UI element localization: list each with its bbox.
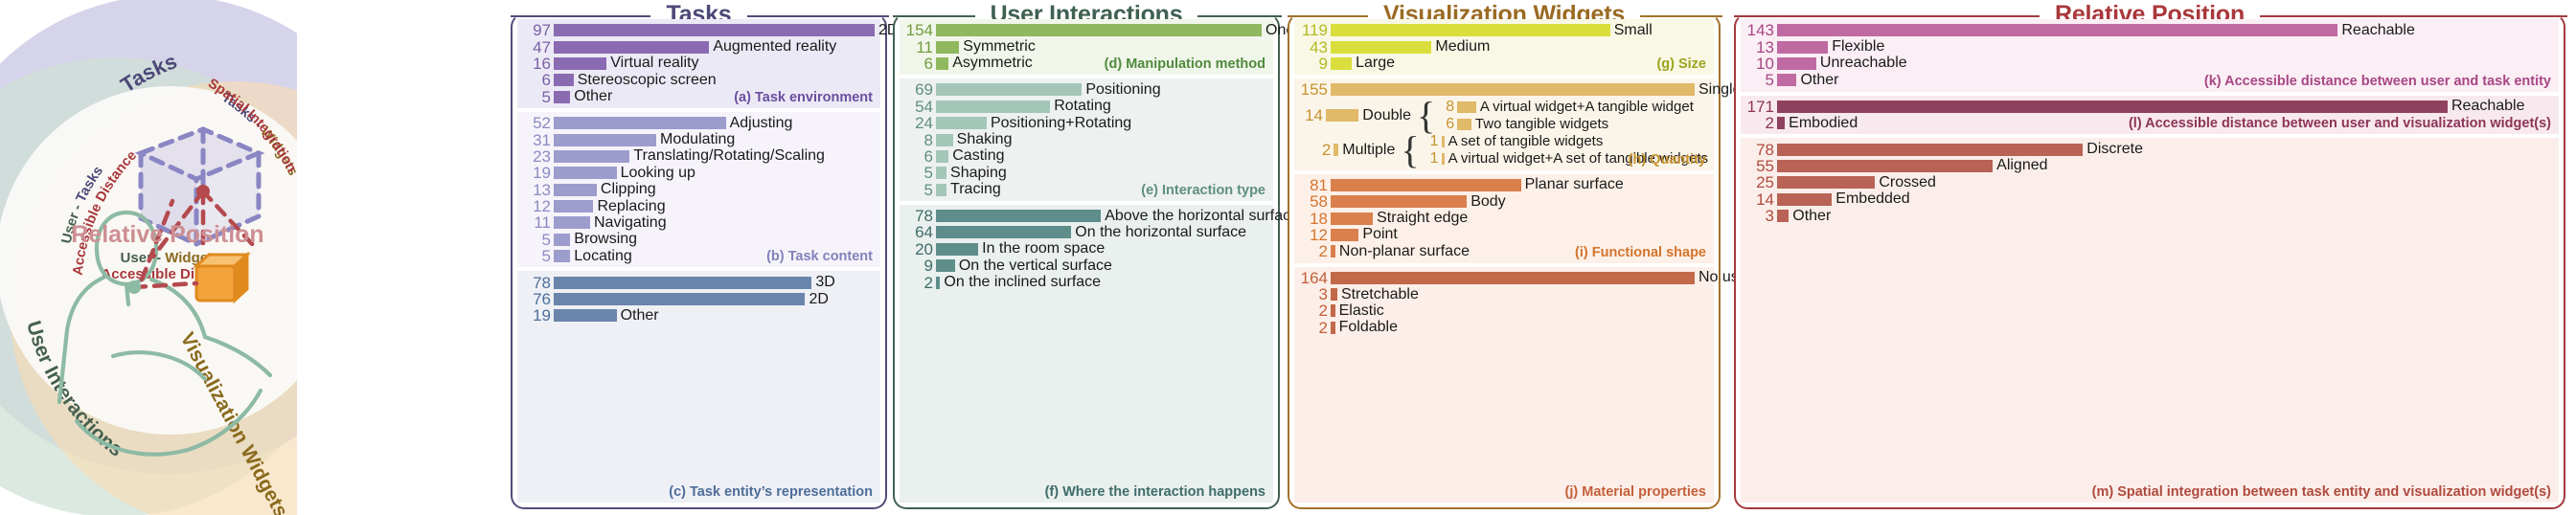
bar-label: Other	[617, 308, 659, 324]
group-caption: (c) Task entity’s representation	[669, 484, 873, 500]
bar	[554, 216, 590, 229]
chart-row: 9On the vertical surface	[903, 257, 1267, 274]
bar-label: Virtual reality	[606, 56, 698, 71]
bar-value: 58	[1298, 193, 1331, 210]
bar	[936, 259, 955, 272]
bar-value: 2	[1744, 115, 1777, 131]
bar	[1777, 210, 1789, 222]
bar-value: 5	[1744, 72, 1777, 88]
bar	[554, 24, 875, 36]
bar-label: Other	[570, 89, 612, 104]
bar	[936, 184, 946, 196]
chart-row: 6Stereoscopic screen	[521, 72, 875, 88]
bar-label: Above the horizontal surface	[1101, 209, 1299, 224]
bar-value: 31	[521, 132, 554, 148]
bar	[1457, 101, 1476, 113]
chart-row: 54Rotating	[903, 99, 1267, 115]
bar-value: 154	[903, 22, 936, 38]
bar-label: 3D	[811, 275, 834, 290]
bar-value: 1	[1423, 150, 1442, 167]
chart-row: 8A virtual widget+A tangible widget	[1438, 99, 1694, 116]
bar-label: Planar surface	[1521, 177, 1624, 192]
bar-label: Body	[1467, 194, 1505, 210]
chart-group: 155Single14Double{8A virtual widget+A ta…	[1294, 78, 1714, 169]
chart-row: 43Medium	[1298, 38, 1708, 55]
group-caption: (h) Quantity	[1629, 152, 1706, 168]
chart-row: 13Clipping	[521, 182, 875, 198]
bar-label: Browsing	[570, 232, 637, 247]
bar-value: 9	[903, 257, 936, 274]
bar-value: 6	[521, 72, 554, 88]
bar-label: Medium	[1431, 39, 1490, 55]
chart-row: 69Positioning	[903, 81, 1267, 98]
group-caption: (d) Manipulation method	[1105, 56, 1265, 72]
chart-row: 2On the inclined surface	[903, 274, 1267, 290]
bar	[554, 277, 811, 289]
chart-row: 8Shaking	[903, 131, 1267, 147]
chart-group: 78Above the horizontal surface64On the h…	[900, 205, 1273, 503]
bar-label: Embedded	[1832, 191, 1909, 207]
bar	[1777, 176, 1875, 189]
bar-value: 24	[903, 115, 936, 131]
chart-row: 155Single	[1298, 81, 1708, 98]
bar-value: 78	[521, 275, 554, 291]
bar	[554, 200, 593, 213]
bar	[1331, 229, 1358, 241]
group-caption: (i) Functional shape	[1575, 245, 1706, 260]
bar-value: 8	[1438, 99, 1457, 115]
bar-label: Symmetric	[959, 39, 1036, 55]
bar-value: 11	[521, 214, 554, 231]
chart-group: 69Positioning54Rotating24Positioning+Rot…	[900, 78, 1273, 201]
bar	[1331, 288, 1337, 301]
bar-label: Positioning	[1082, 82, 1160, 98]
bar-value: 6	[1438, 116, 1457, 132]
chart-group: 171Reachable2Embodied(l) Accessible dist…	[1741, 96, 2559, 135]
bar-value: 14	[1744, 191, 1777, 208]
chart-row: 24Positioning+Rotating	[903, 115, 1267, 131]
chart-row: 19Looking up	[521, 165, 875, 181]
title-rule	[2260, 15, 2567, 17]
bar-value: 2	[1298, 302, 1331, 319]
bar	[1331, 213, 1373, 225]
bar-value: 143	[1744, 22, 1777, 38]
bar-label: Other	[1796, 73, 1838, 88]
bar-label: Positioning+Rotating	[987, 116, 1131, 131]
chart-row: 19Other	[521, 307, 875, 324]
group-caption: (e) Interaction type	[1141, 183, 1265, 198]
bar-label: Reachable	[2448, 99, 2525, 114]
bar-label: Translating/Rotating/Scaling	[629, 148, 825, 164]
bar-value: 164	[1298, 270, 1331, 286]
bar	[936, 134, 953, 146]
bar	[936, 41, 959, 54]
bar-value: 64	[903, 224, 936, 240]
group-caption: (f) Where the interaction happens	[1045, 484, 1265, 500]
bar	[1457, 119, 1471, 130]
bar-value: 6	[903, 148, 936, 165]
bar	[1777, 24, 2337, 36]
bar-label: Asymmetric	[948, 56, 1033, 71]
chart-group: 154One-handed11Symmetric6Asymmetric(d) M…	[900, 19, 1273, 75]
bar-label: Tracing	[946, 182, 1001, 197]
bar-label: Navigating	[590, 215, 667, 231]
bar-label: Shaking	[953, 132, 1013, 147]
chart-row: 58Body	[1298, 193, 1708, 210]
chart-row: 12Point	[1298, 227, 1708, 243]
bar-value: 69	[903, 81, 936, 98]
group-caption: (j) Material properties	[1565, 484, 1706, 500]
chart-group: 143Reachable13Flexible10Unreachable5Othe…	[1741, 19, 2559, 92]
chart-group: 81Planar surface58Body18Straight edge12P…	[1294, 174, 1714, 263]
title-rule	[1640, 15, 1722, 17]
bar-value: 13	[521, 182, 554, 198]
bar-value: 5	[521, 232, 554, 248]
bar-value: 2	[1301, 142, 1334, 158]
bar	[1331, 195, 1467, 208]
chart-group: 119Small43Medium9Large(g) Size	[1294, 19, 1714, 75]
chart-row: 12Replacing	[521, 198, 875, 214]
bar-value: 43	[1298, 39, 1331, 56]
bar-label: A virtual widget+A tangible widget	[1476, 100, 1694, 115]
bar-label: Straight edge	[1373, 211, 1468, 226]
chart-row: 47Augmented reality	[521, 38, 875, 55]
bar	[554, 234, 570, 246]
panel-relative-position: Relative Position143Reachable13Flexible1…	[1734, 13, 2565, 509]
group-caption: (l) Accessible distance between user and…	[2129, 116, 2551, 131]
bar-label: Point	[1358, 227, 1397, 242]
bar-label: On the horizontal surface	[1071, 225, 1246, 240]
bar-label: Reachable	[2337, 23, 2415, 38]
conceptual-venn-diagram: Tasks User Interactions Visualization Wi…	[0, 0, 297, 515]
bar	[554, 184, 597, 196]
panel-visualization-widgets: Visualization Widgets119Small43Medium9La…	[1288, 13, 1721, 509]
bar-label: On the inclined surface	[940, 275, 1101, 290]
chart-group: 78Discrete55Aligned25Crossed14Embedded3O…	[1741, 138, 2559, 503]
bar-label: Casting	[948, 148, 1004, 164]
bar-value: 18	[1298, 211, 1331, 227]
title-rule	[893, 15, 975, 17]
bar-label: Modulating	[656, 132, 735, 147]
bar-label: Stretchable	[1337, 287, 1419, 302]
chart-row: 2Elastic	[1298, 302, 1708, 319]
bar	[1777, 144, 2083, 156]
bar-value: 78	[903, 208, 936, 224]
chart-row: 18Straight edge	[1298, 210, 1708, 226]
bar-value: 5	[903, 165, 936, 181]
bar	[1331, 83, 1695, 96]
bar	[936, 101, 1050, 113]
bar	[936, 210, 1101, 222]
chart-group: 972D display47Augmented reality16Virtual…	[517, 19, 880, 108]
bar-value: 5	[521, 248, 554, 264]
bar	[1777, 57, 1816, 70]
bar-label: Rotating	[1050, 99, 1111, 114]
bar	[1777, 74, 1796, 86]
bar-label: Flexible	[1828, 39, 1884, 55]
chart-row: 14Embedded	[1744, 191, 2553, 208]
chart-row: 6Casting	[903, 148, 1267, 165]
bar-value: 6	[903, 56, 936, 72]
bar	[1777, 41, 1828, 54]
bar	[936, 83, 1082, 96]
chart-row: 5Browsing	[521, 232, 875, 248]
bar-label: Crossed	[1875, 175, 1936, 190]
bar	[1331, 179, 1521, 191]
bar-label: Locating	[570, 249, 632, 264]
bar	[936, 57, 948, 70]
visualization-widget-icon	[196, 255, 247, 301]
chart-group: 164No use3Stretchable2Elastic2Foldable(j…	[1294, 267, 1714, 503]
bar-label: Foldable	[1335, 320, 1398, 335]
bar-label: Embodied	[1785, 116, 1858, 131]
bar	[554, 117, 726, 129]
chart-group: 52Adjusting31Modulating23Translating/Rot…	[517, 112, 880, 268]
venn-center-label: Relative Position	[71, 221, 263, 248]
bar-label: Other	[1789, 209, 1831, 224]
bar-label: Looking up	[617, 166, 695, 181]
bar	[1326, 109, 1358, 122]
bar-label: Aligned	[1993, 158, 2047, 173]
chart-row: 13Flexible	[1744, 38, 2553, 55]
bar-label: Multiple	[1338, 143, 1395, 158]
bar-value: 20	[903, 241, 936, 257]
chart-row: 143Reachable	[1744, 22, 2553, 38]
bar-value: 3	[1298, 286, 1331, 302]
bar	[1777, 101, 2448, 113]
chart-row: 762D	[521, 291, 875, 307]
bar-label: On the vertical surface	[955, 258, 1112, 274]
bar-label: Double	[1358, 108, 1411, 123]
bar-value: 5	[903, 182, 936, 198]
bar-value: 11	[903, 39, 936, 56]
bar-value: 2	[903, 275, 936, 291]
bar-label: Stereoscopic screen	[574, 73, 717, 88]
bar-label: In the room space	[978, 241, 1105, 257]
chart-row: 78Discrete	[1744, 141, 2553, 157]
chart-row: 78Above the horizontal surface	[903, 208, 1267, 224]
chart-row: 164No use	[1298, 270, 1708, 286]
bar-label: Clipping	[597, 182, 656, 197]
bar-value: 97	[521, 22, 554, 38]
bar-value: 47	[521, 39, 554, 56]
bar	[936, 167, 946, 179]
bar-value: 9	[1298, 56, 1331, 72]
chart-row: 81Planar surface	[1298, 177, 1708, 193]
bar-label: Discrete	[2083, 142, 2143, 157]
chart-row: 3Stretchable	[1298, 286, 1708, 302]
bar-value: 155	[1298, 81, 1331, 98]
bar-label: Unreachable	[1816, 56, 1907, 71]
bar-label: A set of tangible widgets	[1445, 134, 1604, 149]
bar	[1331, 57, 1352, 70]
bar	[554, 74, 574, 86]
chart-row: 16Virtual reality	[521, 56, 875, 72]
chart-row: 11Symmetric	[903, 38, 1267, 55]
group-caption: (g) Size	[1656, 56, 1706, 72]
chart-row: 5Shaping	[903, 165, 1267, 181]
chart-row: 64On the horizontal surface	[903, 224, 1267, 240]
bar	[936, 226, 1071, 238]
bar	[1777, 117, 1785, 129]
title-rule	[1288, 15, 1368, 17]
bar-label: Elastic	[1335, 303, 1384, 319]
brace-icon: {	[1411, 100, 1438, 132]
cube-center-node	[196, 185, 210, 198]
title-rule	[1197, 15, 1282, 17]
bar	[1331, 41, 1431, 54]
chart-row: 3Other	[1744, 208, 2553, 224]
bar-value: 12	[521, 198, 554, 214]
brace-icon: {	[1395, 134, 1422, 167]
chart-row-with-branch: 14Double{8A virtual widget+A tangible wi…	[1298, 99, 1708, 133]
chart-row: 972D display	[521, 22, 875, 38]
bar-value: 1	[1423, 133, 1442, 149]
chart-row: 52Adjusting	[521, 115, 875, 131]
group-caption: (m) Spatial integration between task ent…	[2092, 484, 2551, 500]
bar-value: 119	[1298, 22, 1331, 38]
bar-value: 3	[1744, 208, 1777, 224]
bar	[1777, 160, 1993, 172]
bar-value: 52	[521, 115, 554, 131]
chart-row: 31Modulating	[521, 131, 875, 147]
chart-row: 119Small	[1298, 22, 1708, 38]
bar	[554, 309, 617, 322]
bar-value: 25	[1744, 174, 1777, 190]
bar	[554, 91, 570, 103]
bar	[554, 250, 570, 262]
bar-value: 76	[521, 291, 554, 307]
bar-value: 12	[1298, 227, 1331, 243]
bar-label: Shaping	[946, 166, 1007, 181]
bar-label: Non-planar surface	[1335, 244, 1470, 259]
bar-value: 19	[521, 307, 554, 324]
bar-value: 19	[521, 165, 554, 181]
infographic-root: Tasks User Interactions Visualization Wi…	[0, 0, 2576, 515]
bar-label: Small	[1610, 23, 1653, 38]
group-caption: (b) Task content	[766, 249, 873, 264]
chart-row: 10Unreachable	[1744, 56, 2553, 72]
bar	[1777, 193, 1832, 206]
chart-row: 783D	[521, 274, 875, 290]
bar-label: Adjusting	[726, 116, 793, 131]
bar-value: 8	[903, 132, 936, 148]
chart-row: 154One-handed	[903, 22, 1267, 38]
user-center-node	[127, 280, 141, 294]
panel-user-interactions: User Interactions154One-handed11Symmetri…	[893, 13, 1280, 509]
bar-value: 55	[1744, 158, 1777, 174]
bar-value: 10	[1744, 56, 1777, 72]
chart-row: 23Translating/Rotating/Scaling	[521, 148, 875, 165]
bar	[1331, 272, 1695, 284]
bar-value: 2	[1298, 320, 1331, 336]
bar-label: Large	[1352, 56, 1395, 71]
bar-value: 81	[1298, 177, 1331, 193]
chart-row: 11Navigating	[521, 214, 875, 231]
bar	[554, 293, 805, 305]
bar	[936, 150, 948, 163]
bar	[936, 117, 987, 129]
chart-row: 25Crossed	[1744, 174, 2553, 190]
bar	[554, 167, 617, 179]
bar	[554, 134, 656, 146]
bar-value: 2	[1298, 243, 1331, 259]
bar	[1331, 24, 1610, 36]
bar-label: Augmented reality	[709, 39, 836, 55]
bar-value: 23	[521, 148, 554, 165]
bar-value: 78	[1744, 142, 1777, 158]
title-rule	[511, 15, 650, 17]
title-rule	[747, 15, 889, 17]
bar-value: 5	[521, 89, 554, 105]
bar-label: 2D	[805, 292, 828, 307]
bar	[554, 57, 606, 70]
bar	[936, 24, 1262, 36]
chart-row: 9Large	[1298, 56, 1708, 72]
group-caption: (a) Task environment	[734, 90, 873, 105]
bar-value: 13	[1744, 39, 1777, 56]
bar-label: Replacing	[593, 199, 665, 214]
chart-row: 6Two tangible widgets	[1438, 116, 1694, 133]
bar-value: 54	[903, 99, 936, 115]
bar-value: 14	[1293, 107, 1326, 123]
chart-row: 2Foldable	[1298, 320, 1708, 336]
chart-row: 171Reachable	[1744, 99, 2553, 115]
title-rule	[1734, 15, 2040, 17]
group-caption: (k) Accessible distance between user and…	[2204, 74, 2551, 89]
bar	[554, 150, 629, 163]
chart-row: 1A set of tangible widgets	[1423, 133, 1708, 150]
bar-value: 16	[521, 56, 554, 72]
chart-group: 783D762D19Other(c) Task entity’s represe…	[517, 271, 880, 503]
bar-label: Two tangible widgets	[1471, 117, 1608, 132]
bar-value: 171	[1744, 99, 1777, 115]
bar	[936, 243, 978, 256]
panel-tasks: Tasks972D display47Augmented reality16Vi…	[511, 13, 887, 509]
bar	[554, 41, 709, 54]
chart-row: 55Aligned	[1744, 158, 2553, 174]
chart-row: 20In the room space	[903, 241, 1267, 257]
